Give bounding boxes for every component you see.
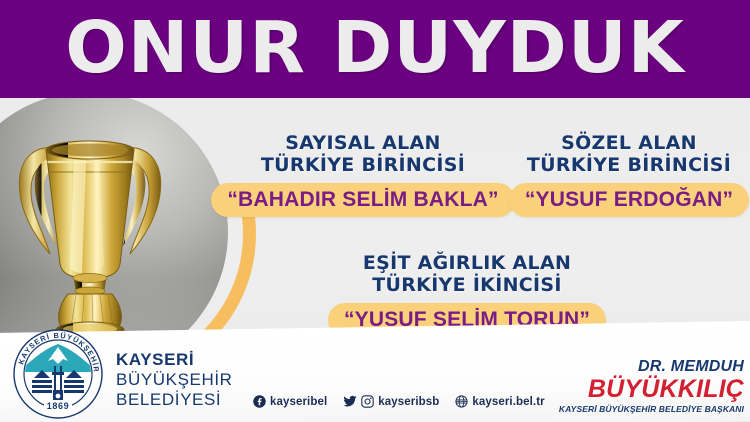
social-twitter-instagram[interactable]: kayseribsb xyxy=(343,395,439,408)
social-facebook[interactable]: kayseribel xyxy=(253,395,327,408)
globe-icon xyxy=(455,395,468,408)
muni-line3: BELEDİYESİ xyxy=(116,390,233,410)
municipality-wordmark: KAYSERİ BÜYÜKŞEHİR BELEDİYESİ xyxy=(116,350,233,410)
muni-line2: BÜYÜKŞEHİR xyxy=(116,370,233,390)
social-links: kayseribel kayseribsb kayseri.bel.tr xyxy=(253,395,545,408)
twitter-icon xyxy=(343,395,357,408)
instagram-icon xyxy=(361,395,374,408)
award-title-line1: EŞİT AĞIRLIK ALAN xyxy=(312,252,622,274)
municipality-seal-icon: KAYSERİ BÜYÜKŞEHİR BELEDİYESİ xyxy=(12,328,104,420)
muni-line1: KAYSERİ xyxy=(116,350,233,370)
award-title-line1: SAYISAL ALAN xyxy=(208,132,518,154)
facebook-icon xyxy=(253,395,266,408)
award-block-sayisal: SAYISAL ALAN TÜRKİYE BİRİNCİSİ “BAHADIR … xyxy=(208,132,518,217)
award-name-pill: “BAHADIR SELİM BAKLA” xyxy=(211,183,514,217)
page-title: ONUR DUYDUK xyxy=(0,5,750,91)
social-website[interactable]: kayseri.bel.tr xyxy=(455,395,544,408)
award-title-line1: SÖZEL ALAN xyxy=(508,132,750,154)
award-name-pill: “YUSUF ERDOĞAN” xyxy=(509,183,749,217)
award-title-line2: TÜRKİYE BİRİNCİSİ xyxy=(208,154,518,176)
svg-text:1869: 1869 xyxy=(47,401,69,411)
award-title-line2: TÜRKİYE İKİNCİSİ xyxy=(312,274,622,296)
trophy-icon xyxy=(0,114,180,354)
award-title-line2: TÜRKİYE BİRİNCİSİ xyxy=(508,154,750,176)
mayor-surname: BÜYÜKKILIÇ xyxy=(559,376,744,403)
mayor-firstname: DR. MEMDUH xyxy=(559,358,744,376)
header-band: ONUR DUYDUK xyxy=(0,0,750,98)
mayor-signature-block: DR. MEMDUH BÜYÜKKILIÇ KAYSERİ BÜYÜKŞEHİR… xyxy=(559,358,744,415)
social-website-handle: kayseri.bel.tr xyxy=(472,396,544,408)
social-facebook-handle: kayseribel xyxy=(270,396,327,408)
mayor-title: KAYSERİ BÜYÜKŞEHİR BELEDİYE BAŞKANI xyxy=(559,404,744,415)
award-block-sozel: SÖZEL ALAN TÜRKİYE BİRİNCİSİ “YUSUF ERDO… xyxy=(508,132,750,217)
social-twitter-instagram-handle: kayseribsb xyxy=(378,396,439,408)
poster-root: ONUR DUYDUK SAYISAL ALAN TÜRKİYE BİRİNCİ… xyxy=(0,0,750,422)
